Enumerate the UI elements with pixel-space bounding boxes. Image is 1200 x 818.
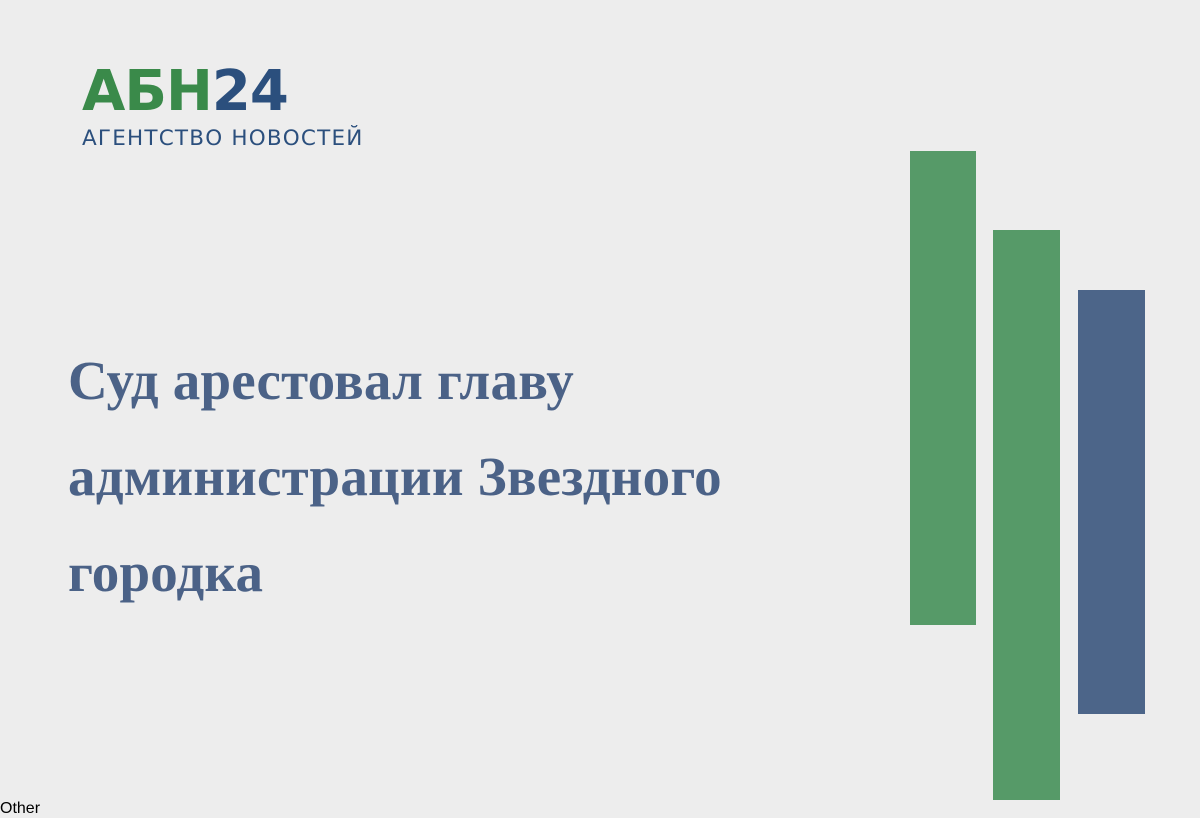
brand-logo-wordmark: АБН24: [82, 62, 372, 122]
headline-line-2: администрации Звездного: [68, 429, 888, 525]
headline-line-3: городка: [68, 525, 888, 621]
headline-line-1: Суд арестовал главу: [68, 333, 888, 429]
news-card: АБН24 АГЕНТСТВО НОВОСТЕЙ Суд арестовал г…: [0, 0, 1200, 800]
decorative-bar-2: [993, 230, 1060, 800]
decorative-bar-3: [1078, 290, 1145, 714]
brand-logo[interactable]: АБН24 АГЕНТСТВО НОВОСТЕЙ: [82, 62, 372, 151]
brand-logo-24: 24: [212, 59, 288, 124]
page-title: Суд арестовал главу администрации Звездн…: [68, 333, 888, 621]
decorative-bar-1: [910, 151, 976, 625]
brand-logo-abn: АБН: [82, 59, 212, 124]
brand-tagline: АГЕНТСТВО НОВОСТЕЙ: [82, 126, 372, 151]
